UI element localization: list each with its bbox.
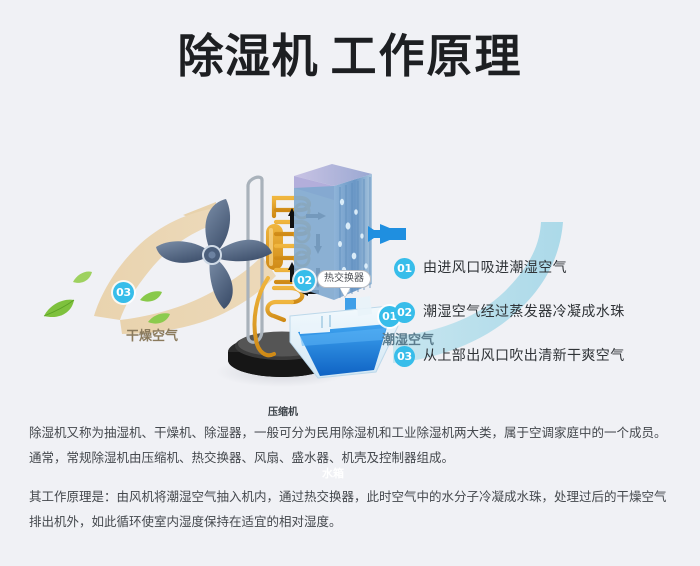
list-item: 01 由进风口吸进潮湿空气 <box>394 256 694 300</box>
paragraph-principle: 其工作原理是：由风机将潮湿空气抽入机内，通过热交换器，此时空气中的水分子冷凝成水… <box>29 484 677 534</box>
step-badge-02: 02 <box>394 302 415 323</box>
step-text-01: 由进风口吸进潮湿空气 <box>423 257 567 277</box>
page-title: 除湿机工作原理 <box>0 32 700 80</box>
inlet-air-arrow <box>368 224 406 244</box>
list-item: 02 潮湿空气经过蒸发器冷凝成水珠 <box>394 300 694 344</box>
label-dry-air: 干燥空气 <box>126 325 178 344</box>
step-badge-03: 03 <box>394 346 415 367</box>
infographic-page: 除湿机工作原理 <box>0 0 700 566</box>
paragraph-definition: 除湿机又称为抽湿机、干燥机、除湿器，一般可分为民用除湿机和工业除湿机两大类，属于… <box>29 420 677 470</box>
callout-pointer <box>340 288 350 297</box>
process-step-list: 01 由进风口吸进潮湿空气 02 潮湿空气经过蒸发器冷凝成水珠 03 从上部出风… <box>394 256 694 388</box>
step-text-03: 从上部出风口吹出清新干爽空气 <box>423 345 625 365</box>
description-block: 除湿机又称为抽湿机、干燥机、除湿器，一般可分为民用除湿机和工业除湿机两大类，属于… <box>29 420 677 534</box>
step-text-02: 潮湿空气经过蒸发器冷凝成水珠 <box>423 301 625 321</box>
heat-exchanger-callout: 热交换器 <box>317 270 371 288</box>
diagram-badge-03: 03 <box>113 282 134 303</box>
list-item: 03 从上部出风口吹出清新干爽空气 <box>394 344 694 388</box>
label-compressor: 压缩机 <box>268 403 298 418</box>
title-part-2: 工作原理 <box>331 29 523 83</box>
diagram-badge-02: 02 <box>294 270 315 291</box>
step-badge-01: 01 <box>394 258 415 279</box>
title-part-1: 除湿机 <box>178 29 319 83</box>
